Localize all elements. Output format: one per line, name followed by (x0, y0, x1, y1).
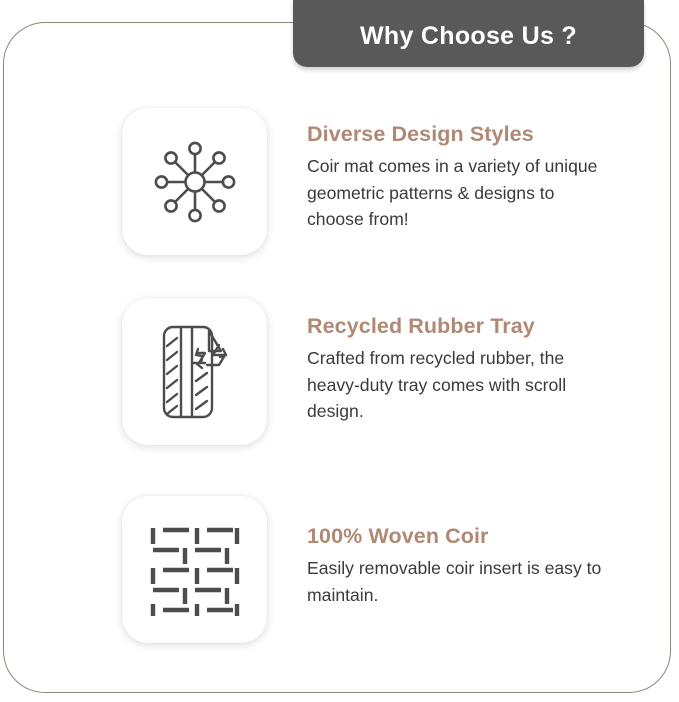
feature-item: Recycled Rubber Tray Crafted from recycl… (122, 298, 612, 445)
feature-text-block: Recycled Rubber Tray Crafted from recycl… (267, 298, 612, 425)
basket-weave-icon (149, 524, 241, 616)
feature-title: 100% Woven Coir (307, 523, 612, 550)
why-choose-us-panel: Why Choose Us ? (0, 0, 679, 702)
feature-title: Diverse Design Styles (307, 121, 612, 148)
feature-title: Recycled Rubber Tray (307, 313, 612, 340)
feature-icon-card (122, 108, 267, 255)
feature-description: Coir mat comes in a variety of unique ge… (307, 153, 607, 233)
feature-text-block: Diverse Design Styles Coir mat comes in … (267, 108, 612, 233)
radial-network-icon (147, 134, 243, 230)
feature-item: 100% Woven Coir Easily removable coir in… (122, 496, 612, 643)
feature-item: Diverse Design Styles Coir mat comes in … (122, 108, 612, 255)
recycled-tire-icon (147, 319, 243, 425)
feature-icon-card (122, 298, 267, 445)
feature-icon-card (122, 496, 267, 643)
feature-text-block: 100% Woven Coir Easily removable coir in… (267, 496, 612, 608)
feature-description: Crafted from recycled rubber, the heavy-… (307, 345, 607, 425)
feature-description: Easily removable coir insert is easy to … (307, 555, 607, 608)
feature-list: Diverse Design Styles Coir mat comes in … (0, 0, 679, 702)
